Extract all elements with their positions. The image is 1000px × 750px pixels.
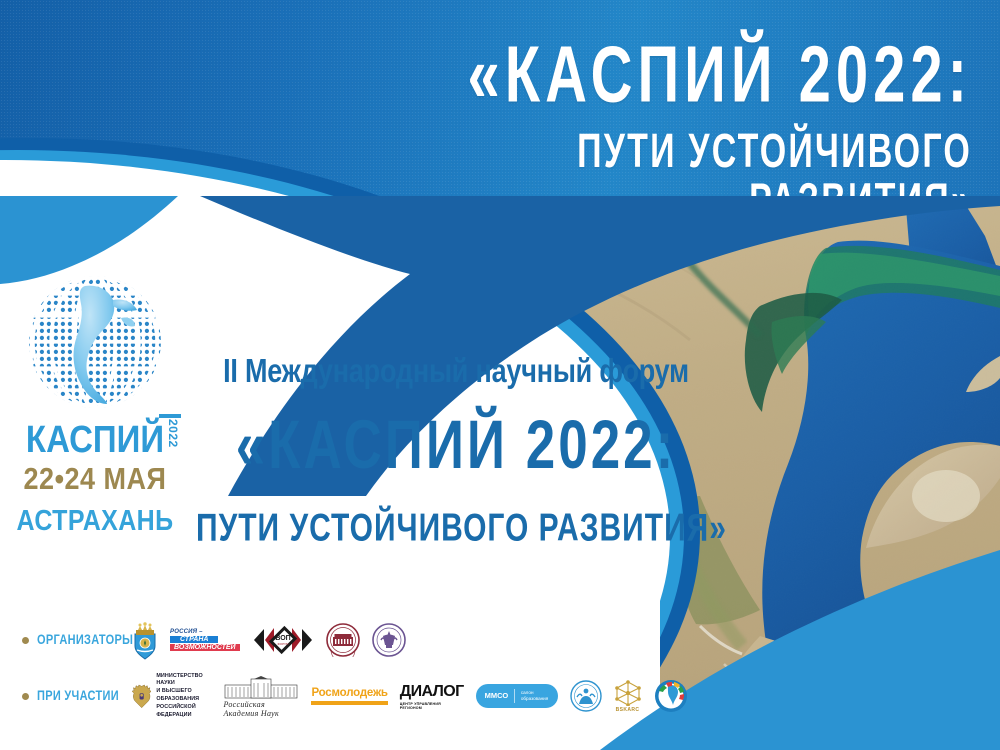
russian-academy-of-sciences-logo[interactable]: Российская Академия Наук [223, 675, 299, 718]
header-title-line2: ПУТИ УСТОЙЧИВОГО РАЗВИТИЯ» [352, 127, 972, 196]
partners-section: ОРГАНИЗАТОРЫ РОССИЯ – [0, 612, 680, 724]
caspian-flags-circle-logo[interactable] [654, 679, 688, 713]
ministry-line2: И ВЫСШЕГО ОБРАЗОВАНИЯ [156, 688, 211, 704]
mmco-text: ММСО [485, 692, 509, 700]
svg-text:ВОП: ВОП [275, 635, 290, 642]
participants-label: ПРИ УЧАСТИИ [22, 690, 132, 702]
ministry-of-science-logo[interactable]: МИНИСТЕРСТВО НАУКИ И ВЫСШЕГО ОБРАЗОВАНИЯ… [132, 673, 211, 720]
russian-federation-emblem [132, 678, 151, 714]
rspo-line2: СТРАНА [170, 636, 218, 643]
mmco-divider [514, 689, 515, 703]
forum-title: «КАСПИЙ 2022: [196, 411, 716, 480]
astrakhan-state-technical-university-seal[interactable] [372, 623, 406, 657]
rosmolodezh-text: Росмолодежь [311, 687, 387, 699]
organizers-row: ОРГАНИЗАТОРЫ РОССИЯ – [0, 612, 680, 668]
forum-logo-block: КАСПИЙ 2022 22•24 МАЯ АСТРАХАНЬ [12, 272, 178, 534]
forum-subtitle: ПУТИ УСТОЙЧИВОГО РАЗВИТИЯ» [196, 510, 716, 549]
caspian-youth-forum-seal[interactable] [570, 680, 602, 712]
header-title-group: «КАСПИЙ 2022: ПУТИ УСТОЙЧИВОГО РАЗВИТИЯ» [352, 34, 972, 196]
rosmolodezh-bar [311, 701, 387, 705]
ministry-text: МИНИСТЕРСТВО НАУКИ И ВЫСШЕГО ОБРАЗОВАНИЯ… [156, 673, 211, 720]
forum-pretitle: II Международный научный форум [196, 355, 716, 388]
ministry-line3: РОССИЙСКОЙ ФЕДЕРАЦИИ [156, 704, 211, 720]
bskarc-text: BSKARC [616, 707, 640, 713]
main-title-block: II Международный научный форум «КАСПИЙ 2… [196, 358, 716, 544]
bskarc-logo[interactable]: BSKARC [614, 680, 642, 713]
poster-root: «КАСПИЙ 2022: ПУТИ УСТОЙЧИВОГО РАЗВИТИЯ» [0, 0, 1000, 750]
ministry-line1: МИНИСТЕРСТВО НАУКИ [156, 673, 211, 689]
rspo-line1: РОССИЯ – [170, 629, 203, 635]
rspo-line3: ВОЗМОЖНОСТЕЙ [170, 644, 240, 651]
organizers-label: ОРГАНИЗАТОРЫ [22, 634, 132, 646]
bullet-icon [22, 637, 29, 644]
dotted-globe-caspian-icon [25, 272, 165, 412]
ran-text: Российская Академия Наук [223, 700, 299, 718]
dialog-logo[interactable]: ДИАЛОГ ЦЕНТР УПРАВЛЕНИЯ РЕГИОНОМ [400, 683, 464, 710]
svg-text:ФОРУМ: ФОРУМ [277, 642, 288, 646]
rossiya-strana-vozmozhnostey-logo[interactable]: РОССИЯ – СТРАНА ВОЗМОЖНОСТЕЙ [170, 629, 240, 651]
logo-wordmark: КАСПИЙ [26, 419, 164, 457]
organizers-label-text: ОРГАНИЗАТОРЫ [37, 633, 133, 648]
rosmolodezh-logo[interactable]: Росмолодежь [311, 687, 387, 705]
logo-year-bar [159, 414, 181, 418]
participants-logos: МИНИСТЕРСТВО НАУКИ И ВЫСШЕГО ОБРАЗОВАНИЯ… [132, 673, 688, 720]
mmco-logo[interactable]: ММСО салон образования [476, 684, 558, 708]
bullet-icon [22, 693, 29, 700]
header-title-line1: «КАСПИЙ 2022: [352, 34, 972, 116]
logo-year: 2022 [167, 419, 179, 448]
astrakhan-region-coat-of-arms[interactable] [132, 620, 158, 660]
vop-logo[interactable]: ВОП ФОРУМ [252, 623, 314, 657]
participants-row: ПРИ УЧАСТИИ МИНИСТЕРСТВО НАУКИ И ВЫСШЕГО… [0, 668, 680, 724]
logo-wordmark-row: КАСПИЙ 2022 [26, 422, 164, 455]
astrakhan-state-university-seal[interactable] [326, 623, 360, 657]
mmco-subtext: салон образования [521, 690, 549, 702]
organizers-logos: РОССИЯ – СТРАНА ВОЗМОЖНОСТЕЙ ВОП ФОРУМ [132, 620, 406, 660]
participants-label-text: ПРИ УЧАСТИИ [37, 689, 119, 704]
dialog-subtext: ЦЕНТР УПРАВЛЕНИЯ РЕГИОНОМ [400, 702, 464, 710]
dialog-text: ДИАЛОГ [400, 683, 464, 701]
logo-city: АСТРАХАНЬ [12, 507, 178, 536]
logo-dates: 22•24 МАЯ [12, 464, 178, 495]
